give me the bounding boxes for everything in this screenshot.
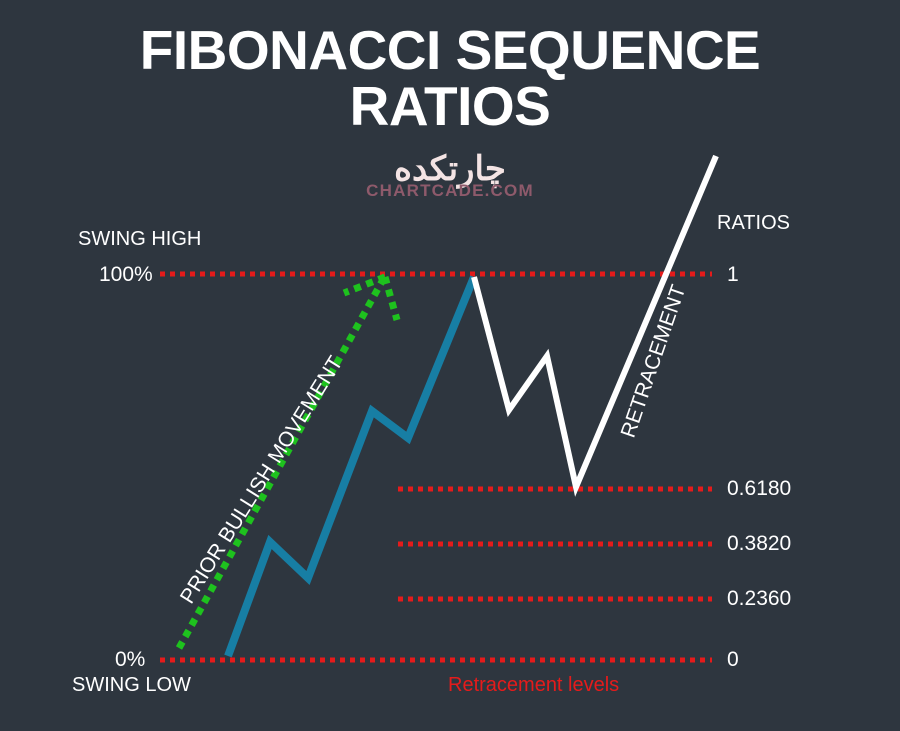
retracement-level-lines [160, 274, 712, 660]
price-path-retracement [474, 156, 716, 487]
fibonacci-chart [0, 0, 900, 731]
infographic-canvas: FIBONACCI SEQUENCE RATIOS چارتکده CHARTC… [0, 0, 900, 731]
prior-bullish-movement-arrow [179, 276, 397, 648]
price-path-bullish [228, 277, 474, 656]
